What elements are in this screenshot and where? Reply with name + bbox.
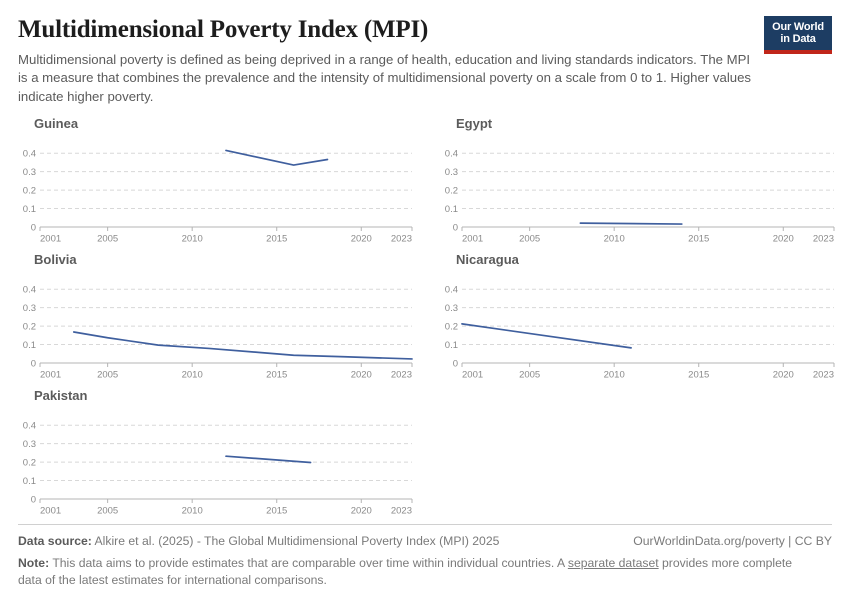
- data-series-line[interactable]: [580, 223, 681, 224]
- data-series-line[interactable]: [226, 456, 311, 462]
- x-tick-label: 2023: [813, 234, 834, 245]
- facet-chart-egypt: Egypt00.10.20.30.42001200520102015202020…: [440, 116, 844, 251]
- data-source-text: Alkire et al. (2025) - The Global Multid…: [92, 534, 500, 548]
- x-tick-label: 2005: [97, 370, 118, 381]
- x-tick-label: 2001: [40, 506, 61, 517]
- line-chart-svg: 00.10.20.30.4200120052010201520202023: [440, 134, 844, 249]
- x-tick-label: 2020: [351, 506, 372, 517]
- facet-title: Nicaragua: [456, 252, 844, 270]
- separate-dataset-link[interactable]: separate dataset: [568, 556, 659, 570]
- x-tick-label: 2001: [40, 370, 61, 381]
- x-tick-label: 2015: [266, 370, 287, 381]
- x-tick-label: 2020: [773, 234, 794, 245]
- y-tick-label: 0: [31, 495, 36, 506]
- y-tick-label: 0.1: [445, 204, 458, 215]
- y-tick-label: 0.2: [23, 458, 36, 469]
- owid-logo-line-1: Our World: [772, 21, 824, 34]
- line-chart-svg: 00.10.20.30.4200120052010201520202023: [18, 270, 422, 385]
- y-tick-label: 0.1: [23, 476, 36, 487]
- x-tick-label: 2010: [182, 506, 203, 517]
- facet-chart-bolivia: Bolivia00.10.20.30.420012005201020152020…: [18, 252, 422, 387]
- y-tick-label: 0.3: [23, 439, 36, 450]
- y-tick-label: 0.4: [23, 285, 36, 296]
- page-header: Multidimensional Poverty Index (MPI) Mul…: [18, 16, 832, 106]
- x-tick-label: 2001: [462, 234, 483, 245]
- x-tick-label: 2015: [688, 370, 709, 381]
- facet-chart-guinea: Guinea00.10.20.30.4200120052010201520202…: [18, 116, 422, 251]
- y-tick-label: 0.2: [23, 322, 36, 333]
- x-tick-label: 2005: [519, 370, 540, 381]
- x-tick-label: 2023: [813, 370, 834, 381]
- y-tick-label: 0.4: [445, 149, 458, 160]
- plot-area[interactable]: 00.10.20.30.4200120052010201520202023: [440, 134, 844, 249]
- x-tick-label: 2010: [182, 370, 203, 381]
- plot-area[interactable]: 00.10.20.30.4200120052010201520202023: [18, 406, 422, 521]
- data-series-line[interactable]: [226, 150, 327, 165]
- x-tick-label: 2020: [351, 370, 372, 381]
- facet-chart-grid: Guinea00.10.20.30.4200120052010201520202…: [18, 116, 834, 521]
- x-tick-label: 2001: [462, 370, 483, 381]
- footer-source-row: Data source: Alkire et al. (2025) - The …: [18, 533, 832, 549]
- page-subtitle: Multidimensional poverty is defined as b…: [18, 51, 753, 107]
- x-tick-label: 2010: [182, 234, 203, 245]
- attribution-text[interactable]: OurWorldinData.org/poverty | CC BY: [617, 533, 832, 549]
- facet-title: Pakistan: [34, 388, 422, 406]
- note-text-before: This data aims to provide estimates that…: [49, 556, 568, 570]
- y-tick-label: 0: [31, 223, 36, 234]
- x-tick-label: 2001: [40, 234, 61, 245]
- data-source-label: Data source:: [18, 534, 92, 548]
- y-tick-label: 0.1: [23, 204, 36, 215]
- page-title: Multidimensional Poverty Index (MPI): [18, 16, 832, 44]
- chart-note: Note: This data aims to provide estimate…: [18, 555, 808, 588]
- y-tick-label: 0: [31, 359, 36, 370]
- y-tick-label: 0.1: [23, 340, 36, 351]
- x-tick-label: 2023: [391, 234, 412, 245]
- line-chart-svg: 00.10.20.30.4200120052010201520202023: [18, 134, 422, 249]
- chart-footer: Data source: Alkire et al. (2025) - The …: [18, 524, 832, 588]
- x-tick-label: 2010: [604, 370, 625, 381]
- y-tick-label: 0.1: [445, 340, 458, 351]
- data-series-line[interactable]: [74, 332, 412, 359]
- x-tick-label: 2015: [688, 234, 709, 245]
- facet-title: Bolivia: [34, 252, 422, 270]
- facet-title: Egypt: [456, 116, 844, 134]
- owid-logo[interactable]: Our World in Data: [764, 16, 832, 54]
- y-tick-label: 0.2: [445, 186, 458, 197]
- y-tick-label: 0.3: [445, 167, 458, 178]
- y-tick-label: 0: [453, 223, 458, 234]
- note-label: Note:: [18, 556, 49, 570]
- x-tick-label: 2023: [391, 506, 412, 517]
- line-chart-svg: 00.10.20.30.4200120052010201520202023: [18, 406, 422, 521]
- x-tick-label: 2020: [773, 370, 794, 381]
- y-tick-label: 0.4: [23, 421, 36, 432]
- owid-logo-line-2: in Data: [780, 33, 815, 46]
- y-tick-label: 0.3: [23, 303, 36, 314]
- data-source: Data source: Alkire et al. (2025) - The …: [18, 533, 499, 549]
- x-tick-label: 2005: [519, 234, 540, 245]
- x-tick-label: 2005: [97, 506, 118, 517]
- y-tick-label: 0.3: [445, 303, 458, 314]
- y-tick-label: 0.4: [445, 285, 458, 296]
- facet-chart-pakistan: Pakistan00.10.20.30.42001200520102015202…: [18, 388, 422, 523]
- facet-title: Guinea: [34, 116, 422, 134]
- x-tick-label: 2010: [604, 234, 625, 245]
- facet-chart-nicaragua: Nicaragua00.10.20.30.4200120052010201520…: [440, 252, 844, 387]
- plot-area[interactable]: 00.10.20.30.4200120052010201520202023: [440, 270, 844, 385]
- y-tick-label: 0.3: [23, 167, 36, 178]
- x-tick-label: 2015: [266, 234, 287, 245]
- plot-area[interactable]: 00.10.20.30.4200120052010201520202023: [18, 270, 422, 385]
- plot-area[interactable]: 00.10.20.30.4200120052010201520202023: [18, 134, 422, 249]
- y-tick-label: 0.2: [23, 186, 36, 197]
- y-tick-label: 0.2: [445, 322, 458, 333]
- y-tick-label: 0: [453, 359, 458, 370]
- x-tick-label: 2005: [97, 234, 118, 245]
- x-tick-label: 2020: [351, 234, 372, 245]
- line-chart-svg: 00.10.20.30.4200120052010201520202023: [440, 270, 844, 385]
- chart-page: Multidimensional Poverty Index (MPI) Mul…: [0, 0, 850, 600]
- x-tick-label: 2023: [391, 370, 412, 381]
- x-tick-label: 2015: [266, 506, 287, 517]
- y-tick-label: 0.4: [23, 149, 36, 160]
